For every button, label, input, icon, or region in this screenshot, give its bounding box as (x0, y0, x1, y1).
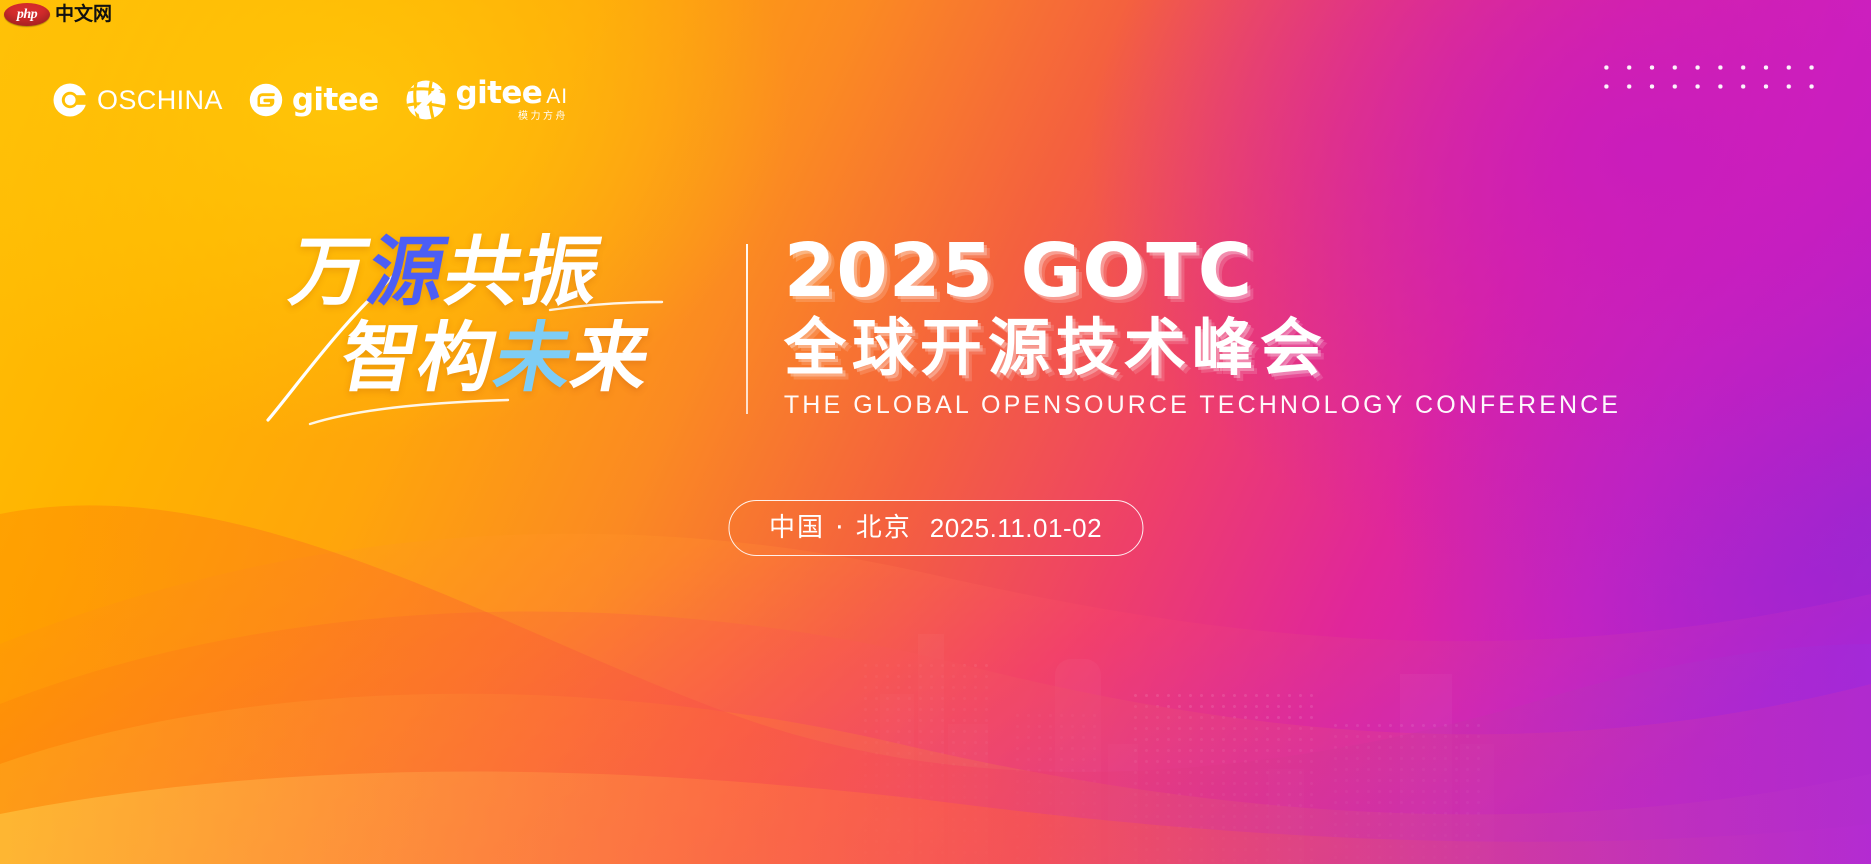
sponsor-logo-gitee[interactable]: gitee (249, 83, 379, 117)
sponsor-logo-label: gitee (292, 85, 379, 116)
event-location: 中国 · 北京 (769, 515, 912, 541)
sponsor-logo-gitee-ai[interactable]: gitee AI 模力方舟 (405, 78, 569, 122)
title-divider (746, 244, 748, 414)
skyline-block (1268, 769, 1304, 864)
gitee-ai-wordmark: gitee AI 模力方舟 (456, 78, 569, 122)
dot-grid-icon (1595, 58, 1823, 96)
event-title-block: 万源共振 智构未来 2025 GOTC 全球开源技术峰会 THE GLOBAL … (0, 232, 1871, 422)
event-datetime-location-pill: 中国 · 北京 2025.11.01-02 (728, 500, 1143, 556)
php-logo-icon: php (4, 3, 50, 26)
php-badge-text: php (17, 8, 37, 22)
gitee-logo-icon (249, 83, 283, 117)
php-chinese-site-watermark: php 中文网 (0, 0, 118, 30)
sponsor-logo-sublabel: 模力方舟 (518, 112, 568, 122)
sponsor-logo-oschina[interactable]: OSCHINA (52, 82, 223, 118)
event-date: 2025.11.01-02 (930, 515, 1102, 541)
event-subtitle-en: THE GLOBAL OPENSOURCE TECHNOLOGY CONFERE… (784, 391, 1621, 420)
background-decoration (0, 0, 1871, 864)
sponsor-logo-suffix: AI (546, 86, 568, 107)
dot-field-decoration (860, 660, 990, 864)
event-title-cn: 全球开源技术峰会 (784, 313, 1621, 382)
sponsor-logo-label: gitee (456, 78, 543, 109)
skyline-block (1400, 674, 1452, 864)
event-title-en: 2025 GOTC (784, 234, 1621, 309)
slogan-seg: 智构 (333, 313, 504, 402)
gotc-2025-event-banner: php 中文网 OSCHINA (0, 0, 1871, 864)
dot-field-decoration (1330, 720, 1480, 864)
watermark-label: 中文网 (55, 5, 112, 24)
oschina-logo-icon (52, 82, 88, 118)
slogan-line-1: 万源共振 (285, 234, 608, 310)
event-slogan: 万源共振 智构未来 (250, 232, 720, 422)
skyline-block (1055, 659, 1101, 864)
skyline-block (948, 724, 988, 864)
sponsor-logo-label: OSCHINA (97, 87, 223, 114)
event-title-inner: 万源共振 智构未来 2025 GOTC 全球开源技术峰会 THE GLOBAL … (250, 232, 1621, 422)
skyline-block (918, 634, 944, 864)
gitee-ai-logo-icon (405, 79, 447, 121)
dot-field-decoration (1012, 710, 1102, 864)
sponsor-logo-row: OSCHINA gitee (52, 78, 568, 122)
skyline-block (1108, 744, 1138, 864)
gitee-ai-wordmark-top: gitee AI (456, 78, 569, 109)
skyline-block (1460, 744, 1494, 864)
dot-field-decoration (1130, 690, 1320, 864)
slogan-seg: 共振 (437, 227, 608, 316)
skyline-block (880, 694, 914, 864)
slogan-line-2: 智构未来 (335, 320, 658, 396)
event-name-block: 2025 GOTC 全球开源技术峰会 THE GLOBAL OPENSOURCE… (784, 234, 1621, 421)
